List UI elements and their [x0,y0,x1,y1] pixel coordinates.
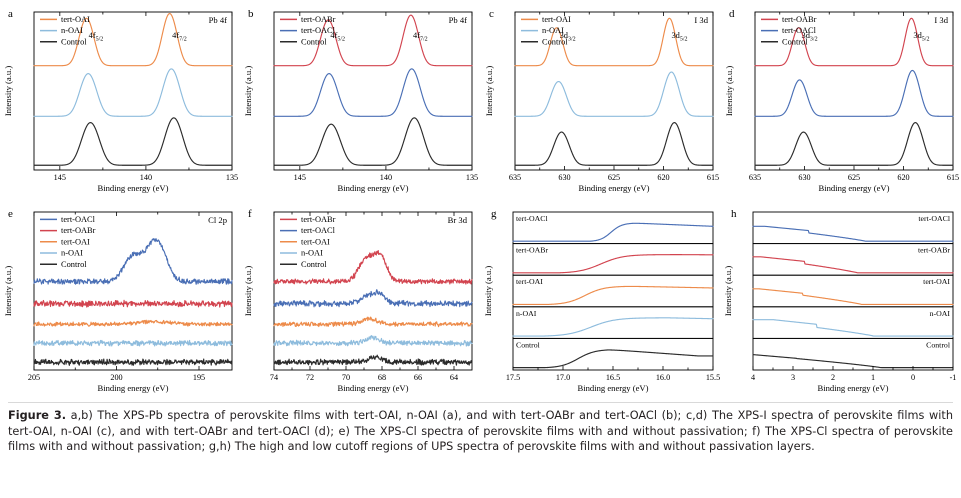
svg-text:620: 620 [897,173,909,182]
svg-text:625: 625 [607,173,619,182]
svg-text:Binding energy (eV): Binding energy (eV) [338,183,409,193]
legend-label-tert-oai: tert-OAI [301,237,330,246]
peak-annotation: 4f5/2 [331,31,346,43]
legend-label-control: Control [301,37,327,46]
svg-text:74: 74 [270,373,278,382]
peak-annotation: 3d5/2 [671,31,687,43]
svg-text:Intensity (a.u.): Intensity (a.u.) [483,266,493,316]
svg-text:140: 140 [380,173,392,182]
svg-text:Intensity (a.u.): Intensity (a.u.) [243,66,253,116]
ups-line-tert-oai [753,289,953,305]
peak-annotation: 4f5/2 [89,31,104,43]
subpanel-label-n-oai: n-OAI [516,309,537,318]
legend-label-tert-oai: tert-OAI [61,237,90,246]
legend-label-tert-oai: tert-OAI [542,15,571,24]
svg-text:3d5/2: 3d5/2 [913,31,929,43]
svg-text:0: 0 [911,373,915,382]
svg-text:205: 205 [28,373,40,382]
svg-text:Intensity (a.u.): Intensity (a.u.) [724,66,734,116]
subpanel-label-tert-oai: tert-OAI [923,277,950,286]
svg-text:4: 4 [751,373,755,382]
svg-text:145: 145 [294,173,306,182]
svg-text:Br 3d: Br 3d [448,215,468,225]
svg-text:17.5: 17.5 [505,373,519,382]
panel-b: b145140135Binding energy (eV)Intensity (… [240,0,480,200]
svg-text:Pb 4f: Pb 4f [449,15,468,25]
svg-text:615: 615 [706,173,718,182]
subpanel-label-tert-oabr: tert-OABr [918,246,950,255]
chart-h: htert-OACltert-OABrtert-OAIn-OAIControl4… [721,200,961,400]
svg-text:I 3d: I 3d [694,15,708,25]
panel-grid: a145140135Binding energy (eV)Intensity (… [0,0,961,400]
svg-text:200: 200 [110,373,122,382]
chart-c: c635630625620615Binding energy (eV)Inten… [481,0,721,200]
svg-text:66: 66 [414,373,422,382]
svg-text:4f5/2: 4f5/2 [89,31,104,43]
spectrum-line-control [755,123,953,166]
subpanel-label-tert-oacl: tert-OACl [918,214,950,223]
svg-text:2: 2 [831,373,835,382]
spectrum-line-tert-oabr [34,300,232,307]
legend-label-control: Control [61,37,87,46]
svg-text:Intensity (a.u.): Intensity (a.u.) [3,66,13,116]
panel-letter-f: f [248,208,252,220]
chart-b: b145140135Binding energy (eV)Intensity (… [240,0,480,200]
ups-line-tert-oacl [513,223,713,241]
legend-label-n-oai: n-OAI [301,249,323,258]
svg-text:135: 135 [226,173,238,182]
legend-label-n-oai: n-OAI [61,26,83,35]
peak-annotation: 4f7/2 [413,31,428,43]
svg-text:-1: -1 [949,373,956,382]
svg-text:3: 3 [791,373,795,382]
legend-label-tert-oabr: tert-OABr [301,215,336,224]
ups-line-tert-oabr [513,255,713,273]
chart-a: a145140135Binding energy (eV)Intensity (… [0,0,240,200]
spectrum-line-tert-oai [274,317,472,327]
chart-d: d635630625620615Binding energy (eV)Inten… [721,0,961,200]
figure-caption: Figure 3. a,b) The XPS-Pb spectra of per… [8,408,953,455]
subpanel-label-control: Control [516,340,541,349]
panel-d: d635630625620615Binding energy (eV)Inten… [721,0,961,200]
panel-letter-d: d [729,8,735,20]
legend-label-n-oai: n-OAI [61,249,83,258]
svg-text:Binding energy (eV): Binding energy (eV) [578,183,649,193]
chart-f: f747270686664Binding energy (eV)Intensit… [240,200,480,400]
legend-label-control: Control [61,260,87,269]
svg-text:635: 635 [749,173,761,182]
spectrum-line-n-oai [515,72,713,116]
svg-text:625: 625 [848,173,860,182]
ups-line-tert-oai [513,286,713,304]
svg-text:68: 68 [378,373,386,382]
spectrum-line-control [274,118,472,165]
svg-text:135: 135 [466,173,478,182]
svg-text:70: 70 [342,373,350,382]
svg-text:16.5: 16.5 [605,373,619,382]
legend-label-tert-oabr: tert-OABr [61,226,96,235]
svg-text:4f7/2: 4f7/2 [413,31,428,43]
legend-label-tert-oai: tert-OAI [61,15,90,24]
svg-text:15.5: 15.5 [705,373,719,382]
panel-letter-c: c [489,8,494,20]
figure-label: Figure 3. [8,409,66,422]
spectrum-line-control [515,123,713,166]
svg-text:Intensity (a.u.): Intensity (a.u.) [484,66,494,116]
spectrum-line-control [274,355,472,365]
spectrum-line-control [34,359,232,365]
spectrum-line-tert-oai [34,320,232,326]
legend-label-tert-oacl: tert-OACl [782,26,817,35]
ups-line-n-oai [513,318,713,336]
ups-line-tert-oacl [753,226,953,241]
svg-text:4f7/2: 4f7/2 [172,31,187,43]
svg-text:17.0: 17.0 [555,373,569,382]
chart-e: e205200195Binding energy (eV)Intensity (… [0,200,240,400]
svg-text:620: 620 [657,173,669,182]
caption-divider [8,402,953,403]
spectrum-line-tert-oacl [274,69,472,116]
svg-text:1: 1 [871,373,875,382]
panel-h: htert-OACltert-OABrtert-OAIn-OAIControl4… [721,200,961,400]
ups-line-control [753,355,953,368]
legend-label-tert-oabr: tert-OABr [301,15,336,24]
svg-text:Intensity (a.u.): Intensity (a.u.) [243,266,253,316]
spectrum-line-n-oai [34,340,232,346]
svg-text:Binding energy (eV): Binding energy (eV) [817,383,888,393]
spectrum-line-control [34,118,232,165]
spectrum-line-tert-oacl [755,70,953,116]
legend-label-control: Control [301,260,327,269]
chart-g: gtert-OACltert-OABrtert-OAIn-OAIControl1… [481,200,721,400]
panel-letter-e: e [8,208,13,220]
svg-text:Binding energy (eV): Binding energy (eV) [338,383,409,393]
peak-annotation: 3d5/2 [913,31,929,43]
panel-g: gtert-OACltert-OABrtert-OAIn-OAIControl1… [481,200,721,400]
svg-text:64: 64 [450,373,458,382]
subpanel-label-tert-oai: tert-OAI [516,277,543,286]
legend-label-tert-oacl: tert-OACl [301,226,336,235]
peak-annotation: 4f7/2 [172,31,187,43]
subpanel-label-tert-oacl: tert-OACl [516,214,548,223]
svg-text:4f5/2: 4f5/2 [331,31,346,43]
svg-text:Binding energy (eV): Binding energy (eV) [818,183,889,193]
svg-text:3d5/2: 3d5/2 [671,31,687,43]
svg-text:I 3d: I 3d [934,15,948,25]
panel-e: e205200195Binding energy (eV)Intensity (… [0,200,240,400]
svg-text:195: 195 [193,373,205,382]
svg-text:72: 72 [306,373,314,382]
subpanel-label-control: Control [926,340,951,349]
svg-text:630: 630 [558,173,570,182]
panel-f: f747270686664Binding energy (eV)Intensit… [240,200,480,400]
ups-line-n-oai [753,320,953,336]
legend-label-tert-oabr: tert-OABr [782,15,817,24]
ups-line-tert-oabr [753,257,953,273]
subpanel-label-n-oai: n-OAI [929,309,950,318]
svg-text:Intensity (a.u.): Intensity (a.u.) [723,266,733,316]
figure-root: a145140135Binding energy (eV)Intensity (… [0,0,961,498]
svg-text:145: 145 [54,173,66,182]
panel-c: c635630625620615Binding energy (eV)Inten… [481,0,721,200]
panel-letter-h: h [731,208,737,220]
svg-text:615: 615 [947,173,959,182]
panel-letter-b: b [248,8,254,20]
legend-label-tert-oacl: tert-OACl [61,215,96,224]
svg-text:140: 140 [140,173,152,182]
spectrum-line-tert-oacl [274,290,472,307]
svg-text:Pb 4f: Pb 4f [209,15,228,25]
panel-letter-a: a [8,8,13,20]
svg-text:630: 630 [798,173,810,182]
svg-text:Binding energy (eV): Binding energy (eV) [98,183,169,193]
svg-text:Binding energy (eV): Binding energy (eV) [98,383,169,393]
figure-caption-text: a,b) The XPS-Pb spectra of perovskite fi… [8,409,953,453]
panel-letter-g: g [491,208,497,220]
panel-a: a145140135Binding energy (eV)Intensity (… [0,0,240,200]
spectrum-line-n-oai [34,69,232,116]
spectrum-line-n-oai [274,336,472,346]
ups-line-control [513,350,713,368]
svg-text:635: 635 [508,173,520,182]
svg-text:16.0: 16.0 [655,373,669,382]
svg-text:Cl 2p: Cl 2p [208,215,227,225]
svg-text:Binding energy (eV): Binding energy (eV) [577,383,648,393]
subpanel-label-tert-oabr: tert-OABr [516,246,548,255]
svg-text:Intensity (a.u.): Intensity (a.u.) [3,266,13,316]
